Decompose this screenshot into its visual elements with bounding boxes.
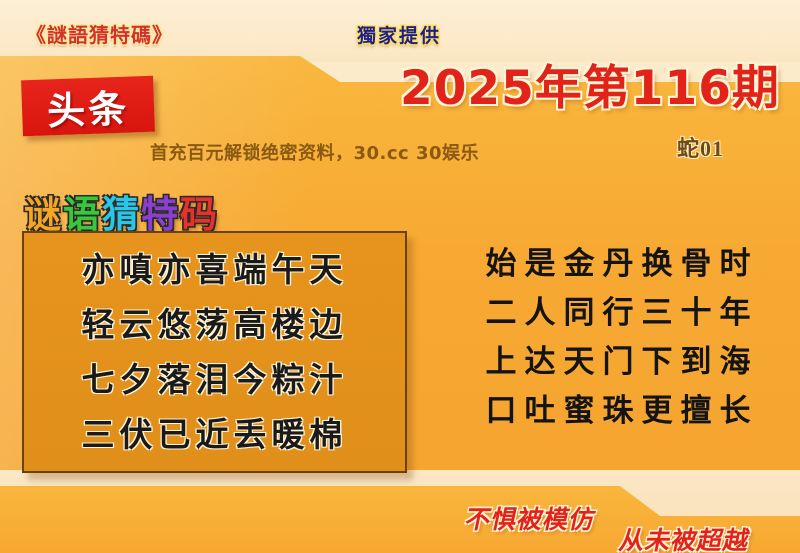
- poem-line: 上达天门下到海: [448, 338, 788, 387]
- exclusive-label: 獨家提供: [357, 21, 441, 48]
- section-title-char-5: 码: [180, 184, 219, 238]
- section-title-char-1: 谜: [24, 184, 63, 238]
- section-title-char-4: 特: [141, 184, 180, 238]
- riddle-line: 七夕落泪今粽汁: [38, 352, 391, 407]
- riddle-line: 亦嗔亦喜端午天: [38, 242, 391, 297]
- section-title-char-2: 语: [63, 184, 102, 238]
- poster-root: 《謎語猜特碼》 獨家提供 2025年第116期 头条 首充百元解锁绝密资料，30…: [0, 0, 800, 553]
- section-title-char-3: 猜: [102, 184, 141, 238]
- promo-text: 首充百元解锁绝密资料，30.cc 30娱乐: [150, 139, 479, 165]
- footer-slogan-left: 不惧被模仿: [462, 500, 600, 536]
- traditional-title: 《謎語猜特碼》: [26, 19, 173, 48]
- headline-badge: 头条: [21, 76, 155, 137]
- section-title: 谜语猜特码: [24, 184, 219, 238]
- poem-block: 始是金丹换骨时 二人同行三十年 上达天门下到海 口吐蜜珠更擅长: [448, 240, 788, 436]
- riddle-box: 亦嗔亦喜端午天 轻云悠荡高楼边 七夕落泪今粽汁 三伏已近丢暖棉: [22, 231, 407, 473]
- poem-line: 始是金丹换骨时: [448, 240, 788, 289]
- riddle-line: 轻云悠荡高楼边: [38, 297, 391, 352]
- zodiac-label: 蛇01: [677, 131, 724, 163]
- footer-slogan-right: 从未被超越: [616, 521, 754, 553]
- poem-line: 二人同行三十年: [448, 289, 788, 338]
- headline-badge-label: 头条: [46, 77, 130, 135]
- riddle-line: 三伏已近丢暖棉: [38, 407, 391, 462]
- poem-line: 口吐蜜珠更擅长: [448, 387, 788, 436]
- issue-title: 2025年第116期: [400, 49, 780, 118]
